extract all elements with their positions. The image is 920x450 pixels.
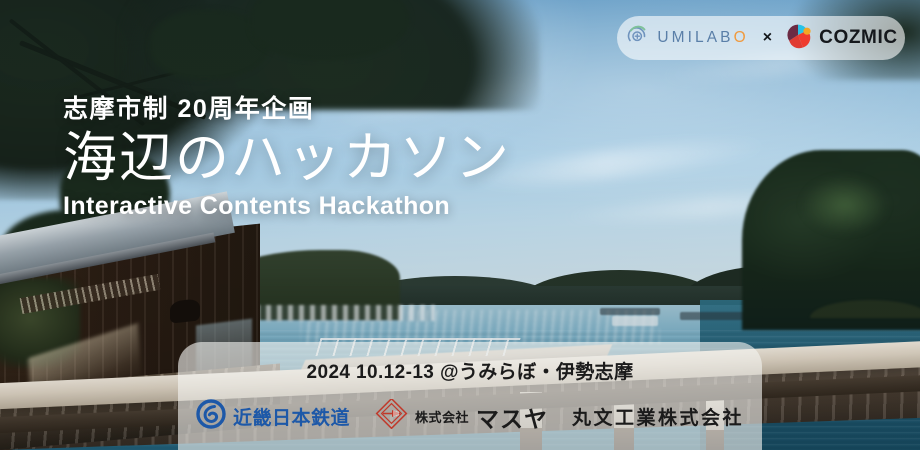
- cozmic-wordmark: COZMIC: [819, 27, 898, 49]
- cabin-window: [170, 298, 200, 323]
- page-title: 海辺のハッカソン: [63, 128, 511, 188]
- subtitle-english: Interactive Contents Hackathon: [63, 192, 511, 221]
- sponsor-name-masuya: マスヤ: [476, 400, 548, 434]
- sponsor-name-kintetsu: 近畿日本鉄道: [233, 403, 350, 430]
- oyster-raft: [680, 312, 750, 320]
- event-date-venue: 2024 10.12-13 @うみらぼ・伊勢志摩: [178, 357, 762, 384]
- sponsor-row: 近畿日本鉄道 株式会社 マスヤ 丸文工業株式会社: [178, 399, 762, 434]
- sponsor-prefix-masuya: 株式会社: [415, 407, 469, 426]
- kintetsu-circle-logo: [196, 399, 226, 434]
- oyster-raft: [600, 308, 660, 315]
- umilabo-wordmark: UMILABO: [657, 29, 748, 47]
- umilabo-logo[interactable]: UMILABO: [624, 23, 748, 54]
- umilabo-spiral-icon: [624, 23, 650, 54]
- cozmic-pie-icon: [786, 23, 812, 54]
- logo-separator-x: ×: [763, 29, 772, 47]
- hackathon-poster: UMILABO × COZMIC 志摩市制 20周年企画 海辺のハッカソン In…: [0, 0, 920, 450]
- headline-block: 志摩市制 20周年企画 海辺のハッカソン Interactive Content…: [63, 96, 511, 221]
- kicker-text: 志摩市制 20周年企画: [63, 96, 511, 124]
- sponsor-marubun[interactable]: 丸文工業株式会社: [572, 403, 744, 430]
- sponsor-kintetsu[interactable]: 近畿日本鉄道: [196, 399, 350, 434]
- partner-logo-pill: UMILABO × COZMIC: [617, 16, 905, 60]
- cozmic-logo[interactable]: COZMIC: [786, 23, 898, 54]
- moored-boats: [255, 305, 435, 321]
- small-boat: [612, 316, 658, 326]
- sponsor-masuya[interactable]: 株式会社 マスヤ: [374, 399, 548, 434]
- event-info-panel: 2024 10.12-13 @うみらぼ・伊勢志摩 近畿日本鉄道: [178, 342, 762, 450]
- forest-highlight: [800, 175, 890, 235]
- sponsor-name-marubun: 丸文工業株式会社: [572, 403, 744, 430]
- masuya-diamond-logo: [374, 399, 408, 434]
